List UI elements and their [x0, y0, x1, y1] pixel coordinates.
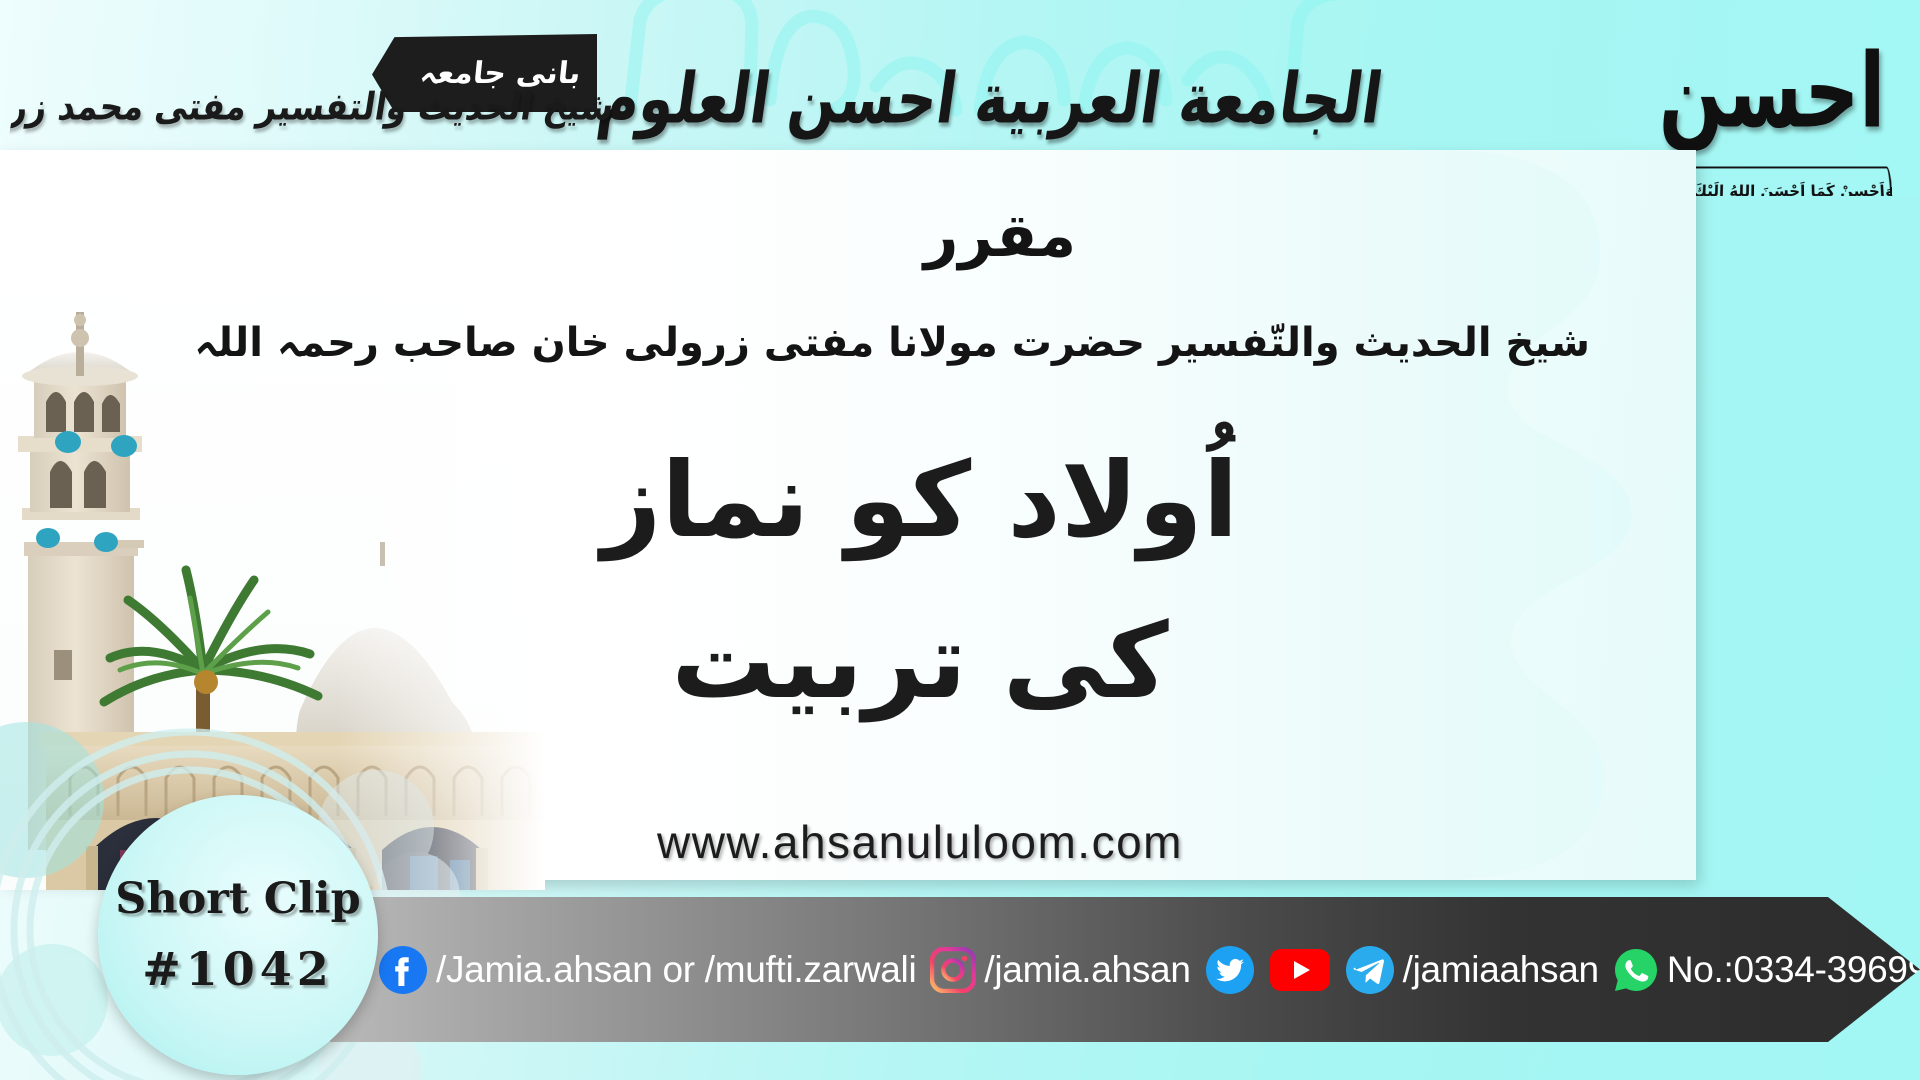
whatsapp-icon[interactable]: [1613, 947, 1659, 993]
footer-social-bar: /Jamia.ahsan or /mufti.zarwali: [330, 897, 1920, 1042]
institute-title: الجامعة العربية احسن العلوم: [640, 44, 1340, 154]
main-title: اُولاد کو نماز کی تربیت: [290, 420, 1550, 742]
main-title-line-2: کی تربیت: [290, 581, 1550, 742]
facebook-handle[interactable]: /Jamia.ahsan or /mufti.zarwali: [436, 949, 916, 991]
kicker-text: مقرر: [640, 205, 1360, 268]
telegram-icon[interactable]: [1345, 945, 1395, 995]
speaker-line: شیخ الحدیث والتّفسیر حضرت مولانا مفتی زر…: [230, 320, 1590, 366]
short-clip-number: #1042: [142, 942, 334, 996]
poster-canvas: الجامعة العربية احسن العلوم بانی جامعہ ش…: [0, 0, 1920, 1080]
website-url[interactable]: www.ahsanululoom.com: [420, 815, 1420, 869]
youtube-icon[interactable]: [1269, 948, 1331, 992]
main-title-line-1: اُولاد کو نماز: [290, 420, 1550, 581]
short-clip-label: Short Clip: [115, 874, 360, 924]
whatsapp-number[interactable]: No.:0334-3969964: [1667, 949, 1920, 991]
instagram-handle[interactable]: /jamia.ahsan: [984, 949, 1190, 991]
twitter-icon[interactable]: [1205, 945, 1255, 995]
short-clip-badge: Short Clip #1042: [98, 795, 378, 1075]
instagram-icon[interactable]: [930, 947, 976, 993]
facebook-icon[interactable]: [378, 945, 428, 995]
telegram-handle[interactable]: /jamiaahsan: [1403, 949, 1599, 991]
social-handles-row: /Jamia.ahsan or /mufti.zarwali: [378, 945, 1920, 995]
institute-title-text: الجامعة العربية احسن العلوم: [593, 58, 1387, 139]
